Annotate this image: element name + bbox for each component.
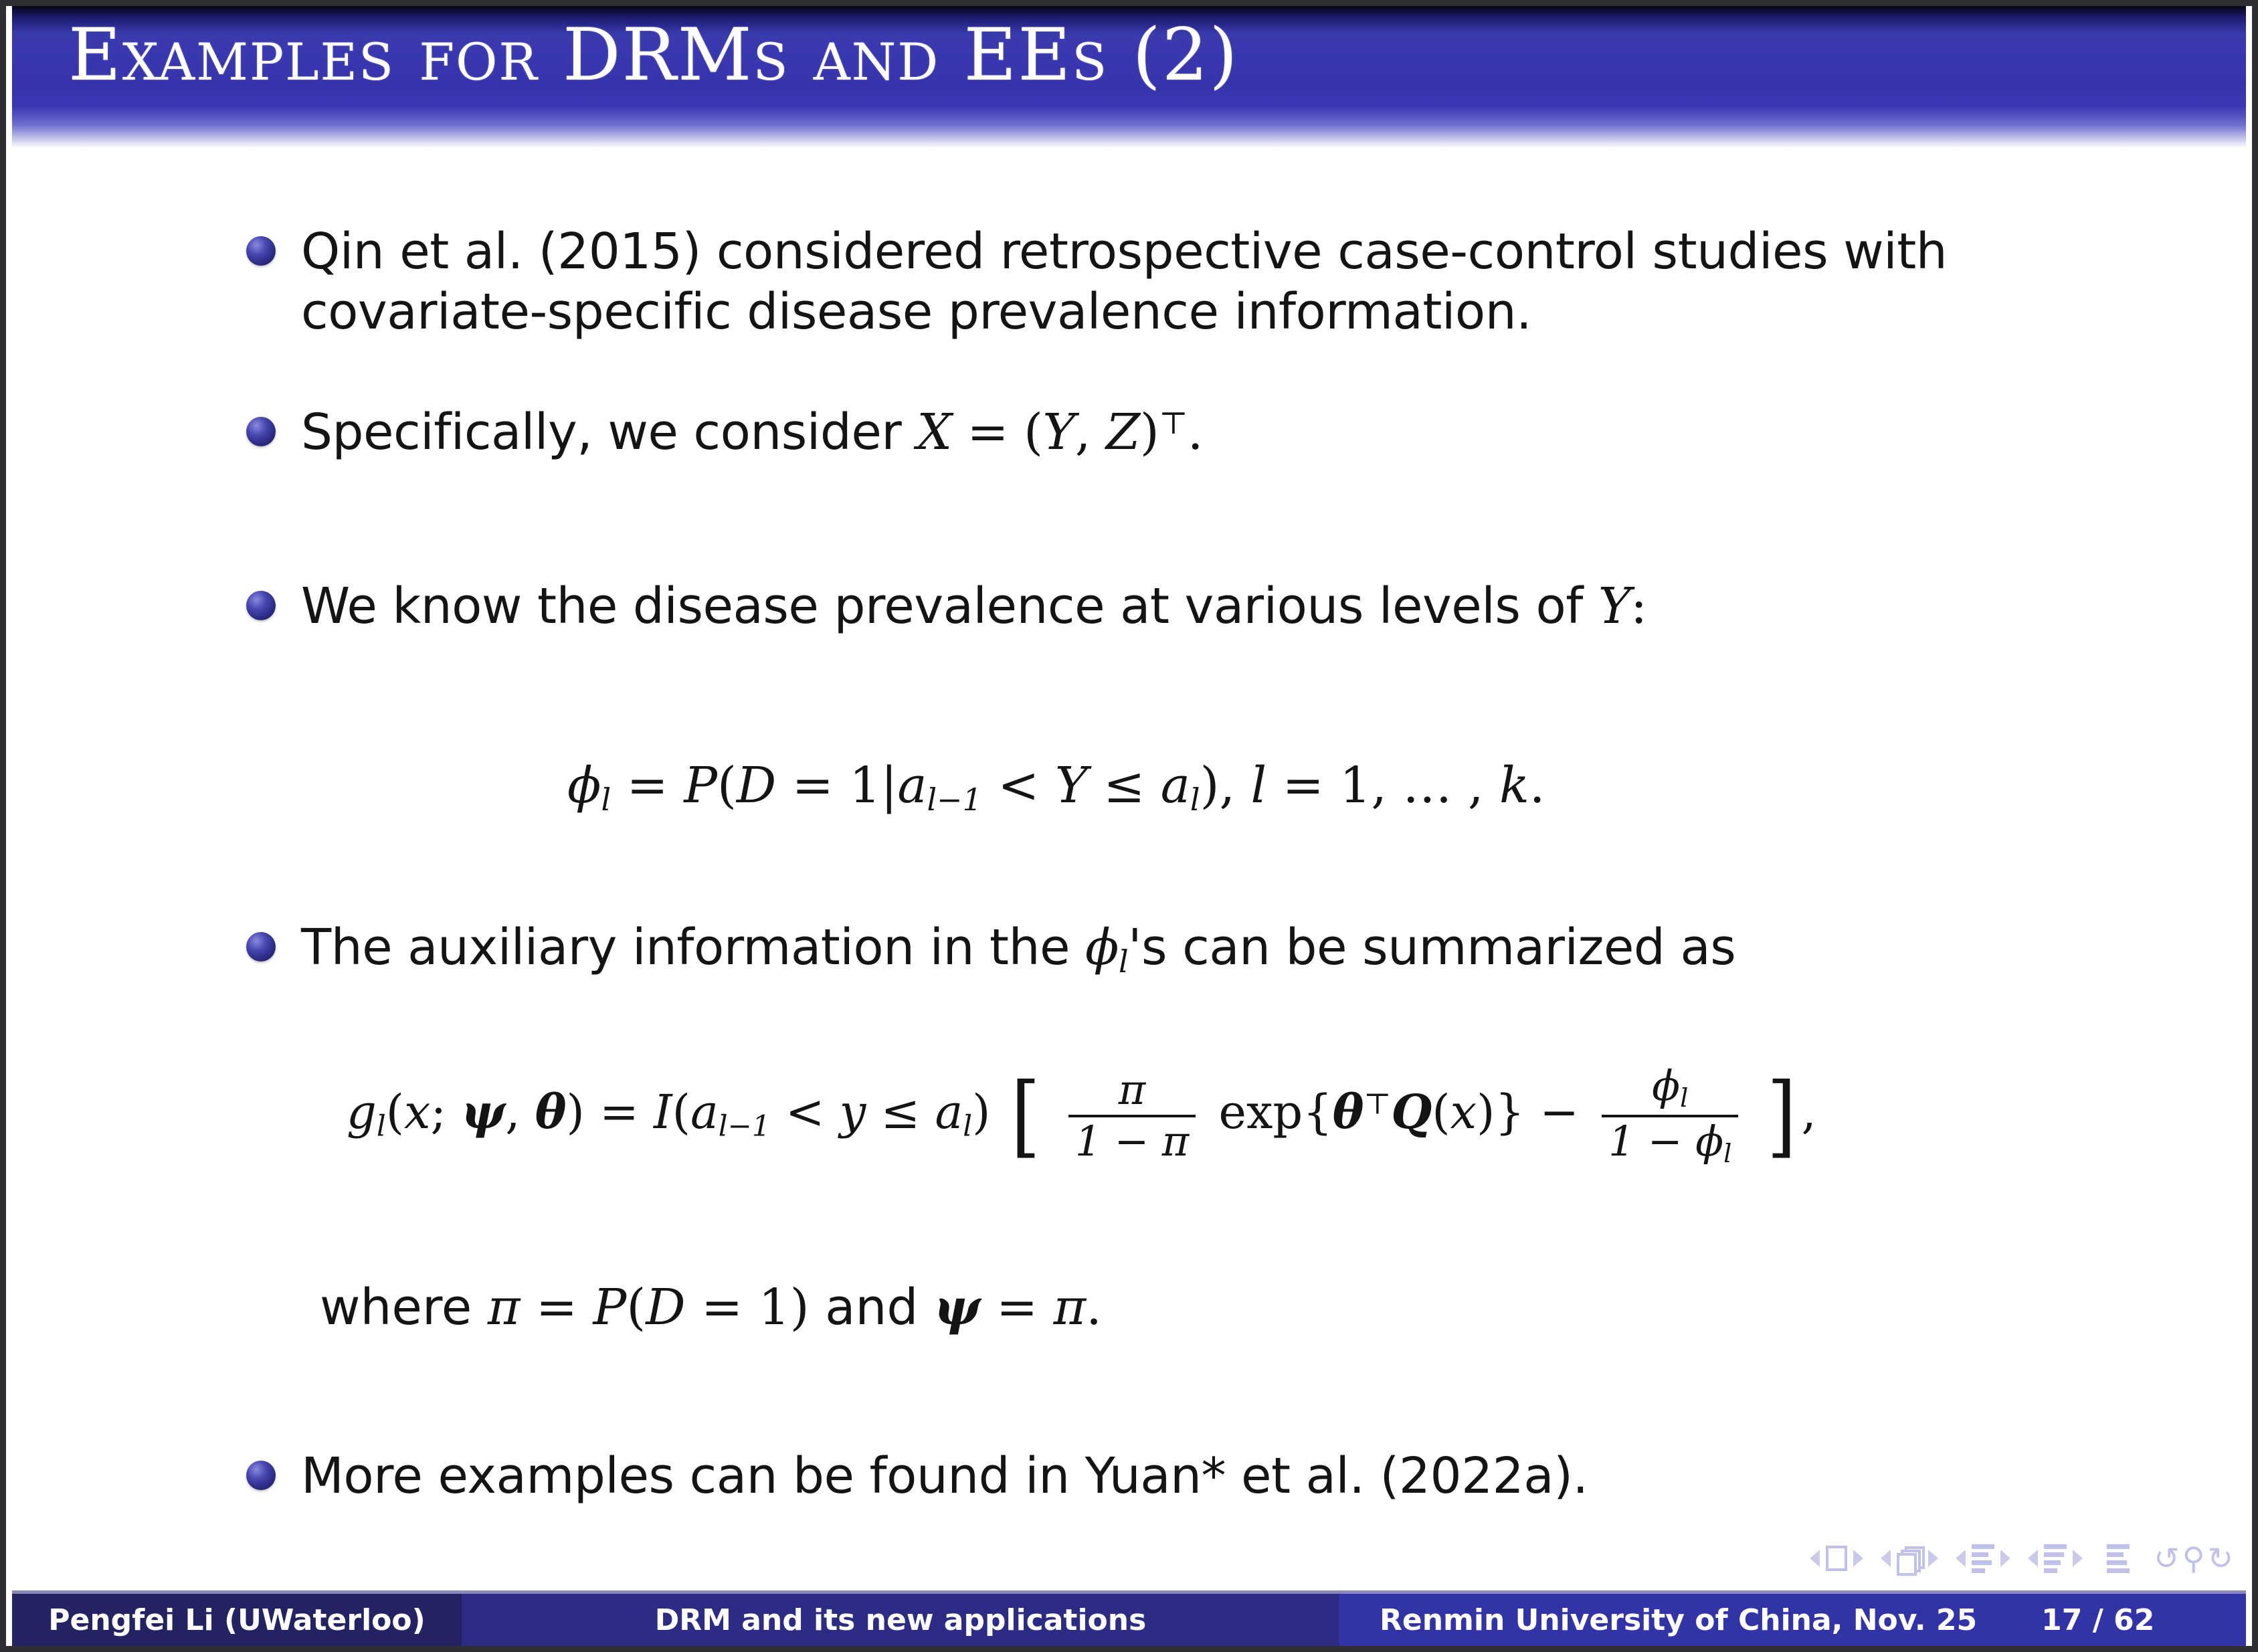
where-D: D [646, 1279, 685, 1336]
math-X: X [917, 403, 951, 461]
eq2-phi-num-symbol: ϕ [1652, 1062, 1680, 1110]
presentation-lines-icon[interactable] [2107, 1544, 2130, 1573]
next-slide-icon[interactable] [1853, 1550, 1863, 1567]
eq1-open-paren: ( [717, 757, 737, 814]
eq2-y: y [840, 1085, 866, 1139]
eq2-phi-num-subscript: l [1680, 1084, 1688, 1113]
eq2-pi-fraction: π 1 − π [1068, 1069, 1196, 1163]
where-equals-1: = [536, 1279, 577, 1336]
eq2-theta-2: θ [1333, 1084, 1364, 1139]
bullet2-prefix: Specifically, we consider [301, 403, 901, 461]
eq2-trailing-comma: , [1801, 1085, 1816, 1139]
eq2-g: g [347, 1085, 377, 1139]
math-equals: = [967, 403, 1009, 461]
subsection-navigation-group[interactable] [1956, 1544, 2010, 1573]
eq2-a-lower-subscript: l−1 [719, 1109, 771, 1143]
prev-section-icon[interactable] [2028, 1550, 2038, 1567]
eq2-phi-numerator: ϕl [1645, 1065, 1695, 1115]
footer-venue-and-page: Renmin University of China, Nov. 25 17 /… [1339, 1590, 2246, 1646]
eq2-close-paren-2: ) [972, 1085, 990, 1139]
where-pi: π [488, 1279, 521, 1336]
footer-author: Pengfei Li (UWaterloo) [12, 1590, 462, 1646]
eq2-pi-denominator: 1 − π [1068, 1115, 1196, 1164]
beamer-slide: Examples for DRMs and EEs (2) Qin et al.… [0, 0, 2258, 1652]
eq2-pi-numerator: π [1112, 1069, 1152, 1115]
eq1-comma: , [1219, 757, 1235, 814]
list-item-label: The auxiliary information in the ϕl's ca… [301, 917, 1735, 981]
eq2-close-paren-3: ) [1477, 1085, 1495, 1139]
list-item-label: Specifically, we consider X = (Y, Z)⊤. [301, 402, 1203, 462]
eq2-x: x [404, 1085, 430, 1139]
display-equation-2: gl(x; ψ, θ) = I(al−1 < y ≤ al) [ π 1 − π… [347, 1065, 1816, 1168]
eq2-minus: − [1539, 1085, 1579, 1139]
footer-page-number: 17 / 62 [2041, 1603, 2154, 1637]
eq1-phi-subscript: l [601, 782, 611, 818]
eq2-left-brace: { [1303, 1085, 1333, 1139]
bullet-dot-icon [246, 932, 276, 961]
eq1-a-upper: a [1161, 757, 1190, 814]
eq2-phi-den-subscript: l [1723, 1139, 1731, 1169]
eq2-comma-1: , [505, 1085, 520, 1139]
eq1-one-2: 1 [1339, 757, 1371, 814]
eq1-phi: ϕ [567, 757, 601, 814]
where-close-paren: ) [790, 1279, 810, 1336]
eq1-ellipsis: , … , [1371, 757, 1483, 814]
math-transpose: ⊤ [1159, 405, 1188, 441]
eq2-open-paren-3: ( [1432, 1085, 1450, 1139]
bullet-dot-icon [246, 1461, 276, 1490]
eq2-less-than: < [785, 1085, 825, 1139]
undo-arrow-icon[interactable]: ↺ [2154, 1543, 2180, 1574]
eq2-exp: exp [1219, 1085, 1303, 1139]
where-psi: ψ [934, 1279, 981, 1336]
list-item-label: More examples can be found in Yuan* et a… [301, 1446, 1588, 1506]
page-title: Examples for DRMs and EEs (2) [68, 19, 1239, 92]
section-lines-icon[interactable] [2044, 1544, 2067, 1573]
eq1-less-than: < [998, 757, 1039, 814]
where-label: where [320, 1279, 472, 1336]
eq2-phi-den-prefix: 1 − ϕ [1608, 1117, 1723, 1166]
list-item-label: Qin et al. (2015) considered retrospecti… [301, 221, 1959, 343]
bullet-dot-icon [246, 417, 276, 446]
eq1-one: 1 [849, 757, 880, 814]
list-item: Specifically, we consider X = (Y, Z)⊤. [246, 402, 1986, 462]
where-clause: where π = P(D = 1) and ψ = π. [320, 1279, 1102, 1336]
slide-body: Qin et al. (2015) considered retrospecti… [12, 148, 2246, 1584]
eq2-theta: θ [535, 1084, 567, 1139]
eq1-a-lower-subscript: l−1 [927, 782, 981, 818]
eq1-a-lower: a [897, 757, 927, 814]
eq1-index-l: l [1251, 757, 1267, 814]
where-open-paren: ( [626, 1279, 646, 1336]
eq1-equals-3: = [1283, 757, 1324, 814]
eq1-mid-bar: | [880, 757, 897, 814]
magnifier-icon[interactable]: ⚲ [2182, 1543, 2205, 1574]
slide-footer: Pengfei Li (UWaterloo) DRM and its new a… [12, 1590, 2246, 1646]
math-Y: Y [1598, 577, 1630, 635]
eq2-semicolon: ; [431, 1085, 447, 1139]
list-item-label: We know the disease prevalence at variou… [301, 576, 1647, 636]
eq1-a-upper-subscript: l [1190, 782, 1200, 818]
prev-slide-icon[interactable] [1810, 1550, 1820, 1567]
eq2-close-paren-1: ) [567, 1085, 585, 1139]
beamer-navigation-bar[interactable]: ↺ ⚲ ↻ [1810, 1543, 2233, 1574]
frame-navigation-group[interactable] [1881, 1546, 1938, 1570]
eq1-less-equal: ≤ [1103, 757, 1145, 814]
eq1-D: D [737, 757, 776, 814]
eq2-a-upper: a [935, 1085, 963, 1139]
footer-venue: Renmin University of China, Nov. 25 [1380, 1603, 1977, 1637]
eq2-phi-denominator: 1 − ϕl [1602, 1115, 1738, 1168]
bullet-dot-icon [246, 236, 276, 266]
slide-navigation-group[interactable] [1810, 1546, 1863, 1571]
where-period: . [1086, 1279, 1102, 1336]
eq2-equals: = [599, 1085, 639, 1139]
eq2-less-equal: ≤ [881, 1085, 921, 1139]
section-navigation-group[interactable] [2028, 1544, 2083, 1573]
eq2-a-upper-subscript: l [963, 1109, 972, 1143]
eq2-a-lower: a [690, 1085, 719, 1139]
math-Z: Z [1106, 403, 1140, 461]
eq1-k: k [1499, 757, 1529, 814]
list-item: We know the disease prevalence at variou… [246, 576, 1986, 636]
math-open-paren: ( [1024, 403, 1042, 461]
where-equals-2: = [701, 1279, 743, 1336]
where-P: P [593, 1279, 627, 1336]
slide-title-bar: Examples for DRMs and EEs (2) [12, 6, 2246, 148]
where-and: and [825, 1279, 918, 1336]
eq2-Q: Q [1391, 1084, 1432, 1139]
next-frame-icon[interactable] [1928, 1550, 1938, 1567]
eq2-phi-fraction: ϕl 1 − ϕl [1602, 1065, 1738, 1168]
eq1-period: . [1529, 757, 1545, 814]
bullet-dot-icon [246, 591, 276, 620]
frames-stack-icon[interactable] [1897, 1546, 1922, 1570]
eq2-transpose: ⊤ [1364, 1087, 1392, 1121]
list-item: More examples can be found in Yuan* et a… [246, 1446, 2053, 1506]
math-Y: Y [1042, 403, 1074, 461]
eq1-close-paren: ) [1200, 757, 1220, 814]
eq2-x-2: x [1450, 1085, 1477, 1139]
where-pi-2: π [1054, 1279, 1087, 1336]
slide-icon[interactable] [1826, 1546, 1847, 1571]
bullet3-prefix: We know the disease prevalence at variou… [301, 577, 1583, 635]
eq1-Y: Y [1055, 757, 1088, 814]
eq2-g-subscript: l [377, 1109, 386, 1143]
math-phi-subscript: l [1119, 943, 1128, 980]
list-item: Qin et al. (2015) considered retrospecti… [246, 221, 1959, 343]
math-close-paren: ) [1140, 403, 1159, 461]
redo-arrow-icon[interactable]: ↻ [2207, 1543, 2233, 1574]
bullet4-suffix: 's can be summarized as [1128, 919, 1735, 976]
where-equals-3: = [996, 1279, 1038, 1336]
eq2-open-paren-2: ( [672, 1085, 690, 1139]
next-subsection-icon[interactable] [2000, 1550, 2010, 1567]
list-item: The auxiliary information in the ϕl's ca… [246, 917, 2053, 981]
display-equation-1: ϕl = P(D = 1|al−1 < Y ≤ al), l = 1, … , … [567, 757, 1545, 818]
where-one: 1 [759, 1279, 790, 1336]
eq2-right-bracket: ] [1766, 1065, 1796, 1168]
math-colon: : [1630, 577, 1647, 635]
document-navigation-group[interactable]: ↺ ⚲ ↻ [2154, 1543, 2233, 1574]
prev-frame-icon[interactable] [1881, 1550, 1891, 1567]
bullet4-prefix: The auxiliary information in the [301, 919, 1070, 976]
next-section-icon[interactable] [2073, 1550, 2083, 1567]
math-phi: ϕ [1085, 919, 1119, 976]
eq1-equals-1: = [627, 757, 668, 814]
eq2-right-brace: } [1495, 1085, 1525, 1139]
prev-subsection-icon[interactable] [1956, 1550, 1966, 1567]
eq2-psi: ψ [461, 1084, 505, 1139]
math-comma: , [1075, 403, 1091, 461]
eq2-left-bracket: [ [1011, 1065, 1040, 1168]
math-period: . [1188, 403, 1203, 461]
eq2-open-paren-1: ( [386, 1085, 404, 1139]
subsection-lines-icon[interactable] [1972, 1544, 1994, 1573]
eq2-indicator-I: I [654, 1085, 672, 1139]
eq1-equals-2: = [792, 757, 834, 814]
eq1-P: P [684, 757, 717, 814]
footer-talk-title: DRM and its new applications [462, 1590, 1339, 1646]
